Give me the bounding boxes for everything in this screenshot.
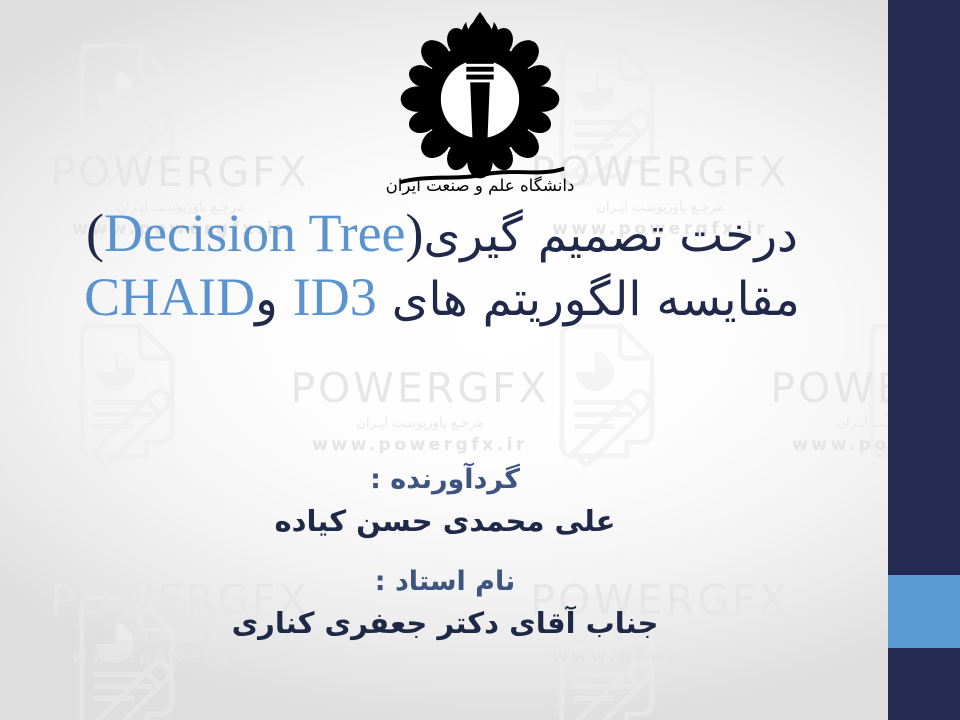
title-decision-tree: Decision Tree (104, 203, 405, 263)
document-chart-pencil-icon (548, 316, 666, 466)
paren-open: ( (406, 203, 424, 263)
iust-logo: دانشگاه علم و صنعت ایران (382, 8, 578, 198)
credits-spacer (10, 542, 880, 564)
watermark-tile: POWERGFX مرجـع پاورپوینـت ایـران www.pow… (210, 368, 630, 455)
sidebar-accent-block (888, 575, 960, 648)
presentation-title-slide: POWERGFX مرجـع پاورپوینـت ایـران www.pow… (0, 0, 960, 720)
title-line-2-persian: مقایسه الگوریتم های (392, 272, 800, 327)
algorithm-chaid: CHAID (84, 267, 255, 327)
watermark-tagline: مرجـع پاورپوینـت ایـران (210, 416, 630, 431)
author-name: علی محمدی حسن کیاده (10, 502, 880, 541)
credits-block: گردآورنده : علی محمدی حسن کیاده نام استا… (10, 462, 880, 643)
title-line-2: مقایسه الگوریتم های ID3 وCHAID (10, 269, 874, 325)
paren-close: ) (86, 203, 104, 263)
watermark-url: www.powergfx.ir (0, 647, 390, 667)
conjunction-va: و (255, 272, 278, 327)
watermark-url: www.powergfx.ir (450, 647, 870, 667)
title-block: درخت تصمیم گیری(Decision Tree) مقایسه ال… (10, 205, 874, 325)
watermark-brand: POWERGFX (210, 368, 630, 409)
supervisor-name: جناب آقای دکتر جعفری کناری (10, 604, 880, 643)
author-label: گردآورنده : (10, 462, 880, 498)
document-chart-pencil-icon (68, 316, 186, 466)
algorithm-id3: ID3 (293, 267, 377, 327)
watermark-url: www.powergfx.ir (210, 435, 630, 455)
title-line-1-persian: درخت تصمیم گیری (423, 208, 797, 263)
logo-container: دانشگاه علم و صنعت ایران (0, 8, 960, 198)
logo-caption: دانشگاه علم و صنعت ایران (386, 176, 575, 196)
title-line-1: درخت تصمیم گیری(Decision Tree) (10, 205, 874, 261)
supervisor-label: نام استاد : (10, 564, 880, 600)
